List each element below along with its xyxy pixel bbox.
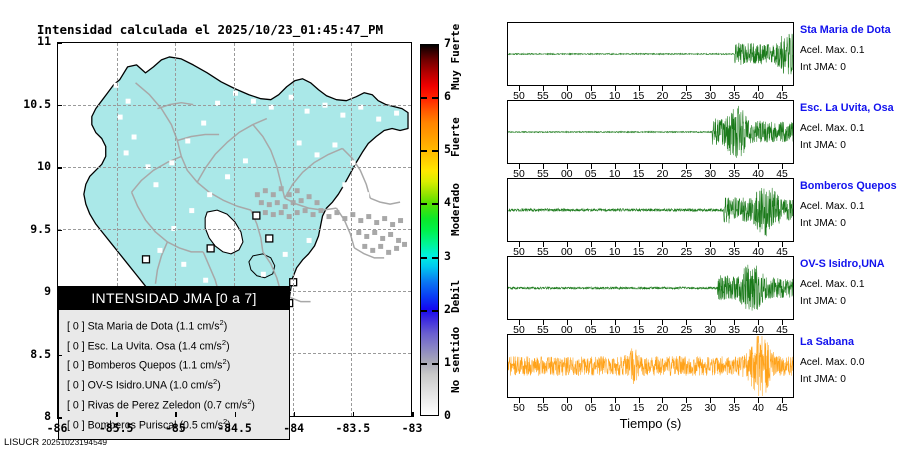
- seismogram-station-name: La Sabana: [800, 336, 854, 348]
- seismogram-station-name: Esc. La Uvita, Osa: [800, 102, 894, 114]
- seismogram-waveform: [508, 23, 793, 85]
- seismogram-x-tick-label: 35: [722, 403, 746, 414]
- map-gridline-horizontal: [58, 229, 411, 230]
- colorbar-tick: [420, 363, 427, 365]
- colorbar-tick-label: 0: [444, 408, 458, 422]
- seismogram-waveform: [508, 179, 793, 241]
- seismogram-int-jma: Int JMA: 0: [800, 296, 846, 307]
- colorbar-category-label: Fuerte: [449, 117, 462, 157]
- legend-item-close-paren: ): [224, 321, 228, 333]
- seismogram-x-tick-label: 25: [674, 403, 698, 414]
- colorbar-tick-label: 3: [444, 249, 458, 263]
- seismogram-station-name: OV-S Isidro,UNA: [800, 258, 885, 270]
- seismogram-x-tick-label: 10: [603, 403, 627, 414]
- map-y-tickmark: [57, 417, 62, 419]
- seismogram-trace-panel[interactable]: [507, 256, 794, 320]
- legend-station-item: [ 0 ] Sta Maria de Dota (1.1 cm/s2): [67, 315, 289, 335]
- map-x-tickmark: [294, 412, 296, 417]
- map-y-tick-label: 10: [5, 159, 51, 173]
- colorbar-tick: [420, 257, 427, 259]
- seismogram-int-jma: Int JMA: 0: [800, 140, 846, 151]
- seismogram-waveform: [508, 335, 793, 397]
- seismogram-x-axis-label: Tiempo (s): [507, 416, 794, 431]
- colorbar-tick: [420, 97, 427, 99]
- legend-station-item: [ 0 ] Esc. La Uvita. Osa (1.4 cm/s2): [67, 335, 289, 355]
- map-y-tickmark: [57, 292, 62, 294]
- seismogram-trace-panel[interactable]: [507, 100, 794, 164]
- legend-item-intensity: [ 0 ]: [67, 360, 85, 372]
- legend-station-item: [ 0 ] OV-S Isidro.UNA (1.0 cm/s2): [67, 374, 289, 394]
- legend-item-station: Esc. La Uvita. Osa: [85, 340, 179, 352]
- map-y-tickmark: [57, 42, 62, 44]
- seismogram-waveform: [508, 101, 793, 163]
- seismogram-accel-max: Acel. Max. 0.1: [800, 45, 865, 56]
- legend-item-station: Bomberos Quepos: [85, 360, 179, 372]
- seismogram-int-jma: Int JMA: 0: [800, 62, 846, 73]
- seismogram-station-name: Bomberos Quepos: [800, 180, 897, 192]
- legend-station-item: [ 0 ] Bomberos Quepos (1.1 cm/s2): [67, 354, 289, 374]
- footer: LISUCR 20251023194549: [4, 437, 107, 448]
- legend-station-item: [ 0 ] Rivas de Perez Zeledon (0.7 cm/s2): [67, 394, 289, 414]
- colorbar-tick: [420, 150, 427, 152]
- map-x-tickmark: [235, 412, 237, 417]
- footer-code: 20251023194549: [42, 437, 107, 447]
- colorbar-category-label: Muy Fuerte: [449, 24, 462, 90]
- map-y-tickmark: [57, 105, 62, 107]
- legend-item-accel: (0.7 cm/s: [204, 399, 248, 411]
- map-y-tick-label: 9: [5, 284, 51, 298]
- colorbar-tick: [432, 150, 439, 152]
- seismogram-x-tick-label: 55: [531, 403, 555, 414]
- colorbar-tick: [420, 310, 427, 312]
- colorbar-category-label: Debil: [449, 280, 462, 313]
- colorbar-tick: [432, 363, 439, 365]
- map-x-tick-label: -85: [145, 421, 205, 435]
- seismogram-x-tick-label: 40: [746, 403, 770, 414]
- seismogram-trace-panel[interactable]: [507, 22, 794, 86]
- seismogram-trace-panel[interactable]: [507, 178, 794, 242]
- legend-item-close-paren: ): [251, 399, 255, 411]
- map-x-tickmark: [175, 412, 177, 417]
- legend-item-station: Rivas de Perez Zeledon: [85, 399, 204, 411]
- legend-item-intensity: [ 0 ]: [67, 321, 85, 333]
- legend-item-intensity: [ 0 ]: [67, 380, 85, 392]
- map-x-tick-label: -84.5: [205, 421, 265, 435]
- seismogram-x-tick-label: 05: [579, 403, 603, 414]
- map-x-tick-label: -83: [382, 421, 442, 435]
- legend-station-list: [ 0 ] Sta Maria de Dota (1.1 cm/s2)[ 0 ]…: [59, 310, 289, 439]
- map-y-tickmark: [57, 167, 62, 169]
- seismogram-accel-max: Acel. Max. 0.0: [800, 357, 865, 368]
- seismogram-x-tick-label: 15: [627, 403, 651, 414]
- seismogram-x-tick-label: 30: [698, 403, 722, 414]
- legend-item-intensity: [ 0 ]: [67, 399, 85, 411]
- seismogram-x-tick-label: 50: [507, 403, 531, 414]
- seismogram-x-tick-label: 00: [555, 403, 579, 414]
- seismogram-accel-max: Acel. Max. 0.1: [800, 201, 865, 212]
- map-y-tick-label: 11: [5, 34, 51, 48]
- colorbar-category-label: No sentido: [449, 327, 462, 393]
- colorbar-category-label: Moderado: [449, 183, 462, 236]
- legend-item-close-paren: ): [227, 360, 231, 372]
- legend-item-close-paren: ): [226, 340, 230, 352]
- map-y-tick-label: 8.5: [5, 347, 51, 361]
- map-x-tick-label: -84: [264, 421, 324, 435]
- legend-item-accel: (1.1 cm/s: [176, 321, 220, 333]
- map-x-tick-label: -85.5: [86, 421, 146, 435]
- colorbar-tick: [432, 97, 439, 99]
- map-x-tickmark: [412, 412, 414, 417]
- colorbar-tick: [420, 203, 427, 205]
- seismogram-x-tick-label: 20: [650, 403, 674, 414]
- colorbar-tick: [432, 310, 439, 312]
- colorbar-tick-label: 6: [444, 89, 458, 103]
- legend-item-close-paren: ): [217, 380, 221, 392]
- seismogram-accel-max: Acel. Max. 0.1: [800, 279, 865, 290]
- seismogram-station-name: Sta Maria de Dota: [800, 24, 891, 36]
- intensity-colorbar: [420, 44, 439, 416]
- legend-item-intensity: [ 0 ]: [67, 340, 85, 352]
- map-y-tick-label: 10.5: [5, 97, 51, 111]
- seismogram-int-jma: Int JMA: 0: [800, 218, 846, 229]
- legend-header: INTENSIDAD JMA [0 a 7]: [59, 287, 289, 310]
- footer-org: LISUCR: [4, 437, 39, 448]
- seismogram-accel-max: Acel. Max. 0.1: [800, 123, 865, 134]
- map-x-tickmark: [353, 412, 355, 417]
- seismogram-trace-panel[interactable]: [507, 334, 794, 398]
- seismogram-int-jma: Int JMA: 0: [800, 374, 846, 385]
- map-x-tickmark: [57, 412, 59, 417]
- legend-item-accel: (1.4 cm/s: [178, 340, 222, 352]
- map-y-tick-label: 9.5: [5, 222, 51, 236]
- map-x-tickmark: [116, 412, 118, 417]
- map-x-tick-label: -86: [27, 421, 87, 435]
- map-gridline-horizontal: [58, 167, 411, 168]
- legend-item-station: OV-S Isidro.UNA: [85, 380, 170, 392]
- legend-item-accel: (1.0 cm/s: [169, 380, 213, 392]
- legend-item-accel: (1.1 cm/s: [179, 360, 223, 372]
- map-y-tickmark: [57, 355, 62, 357]
- intensity-legend-box: INTENSIDAD JMA [0 a 7] [ 0 ] Sta Maria d…: [58, 286, 290, 440]
- map-gridline-horizontal: [58, 105, 411, 106]
- seismogram-waveform: [508, 257, 793, 319]
- map-y-tickmark: [57, 230, 62, 232]
- map-x-tick-label: -83.5: [323, 421, 383, 435]
- legend-item-station: Sta Maria de Dota: [85, 321, 176, 333]
- page-title: Intensidad calculada el 2025/10/23_01:45…: [0, 22, 420, 37]
- colorbar-tick: [432, 203, 439, 205]
- seismogram-x-tick-label: 45: [770, 403, 794, 414]
- colorbar-tick: [432, 257, 439, 259]
